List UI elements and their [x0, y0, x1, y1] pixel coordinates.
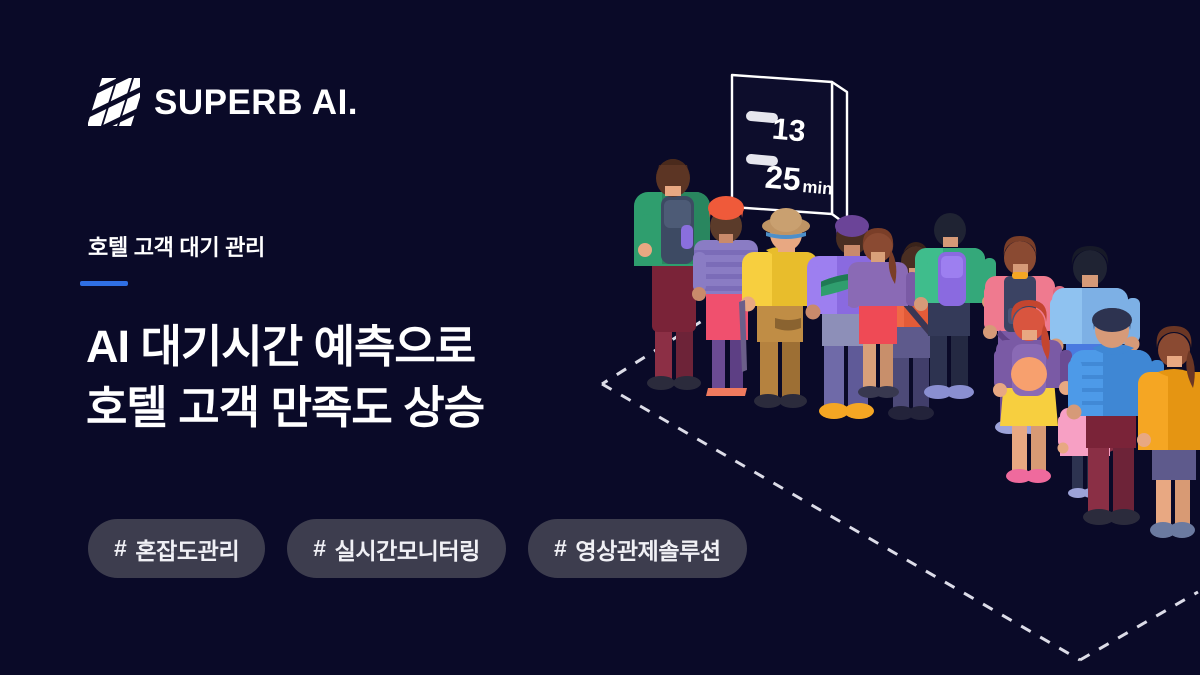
tag-item[interactable]: # 실시간모니터링 — [287, 519, 506, 578]
queue-display-board-icon: 13 25 min — [732, 75, 847, 225]
sign-queue-count: 13 — [771, 113, 807, 149]
queue-illustration: 13 25 min — [560, 0, 1200, 675]
brand-name: SUPERB AI. — [154, 85, 358, 120]
tag-item[interactable]: # 혼잡도관리 — [88, 519, 265, 578]
hash-symbol: # — [313, 535, 325, 562]
accent-underline — [80, 281, 128, 286]
people-queue — [634, 159, 1200, 538]
superb-stripes-icon — [88, 78, 140, 126]
tag-label: 혼잡도관리 — [135, 532, 239, 566]
tag-label: 실시간모니터링 — [335, 532, 480, 566]
eyebrow-text: 호텔 고객 대기 관리 — [88, 230, 265, 262]
page-title: AI 대기시간 예측으로 호텔 고객 만족도 상승 — [86, 316, 484, 438]
sign-wait-value: 25 — [764, 159, 803, 198]
hash-symbol: # — [114, 535, 126, 562]
sign-wait-unit: min — [802, 177, 834, 199]
hero-banner: SUPERB AI. 호텔 고객 대기 관리 AI 대기시간 예측으로 호텔 고… — [0, 0, 1200, 675]
brand-logo[interactable]: SUPERB AI. — [88, 78, 358, 126]
